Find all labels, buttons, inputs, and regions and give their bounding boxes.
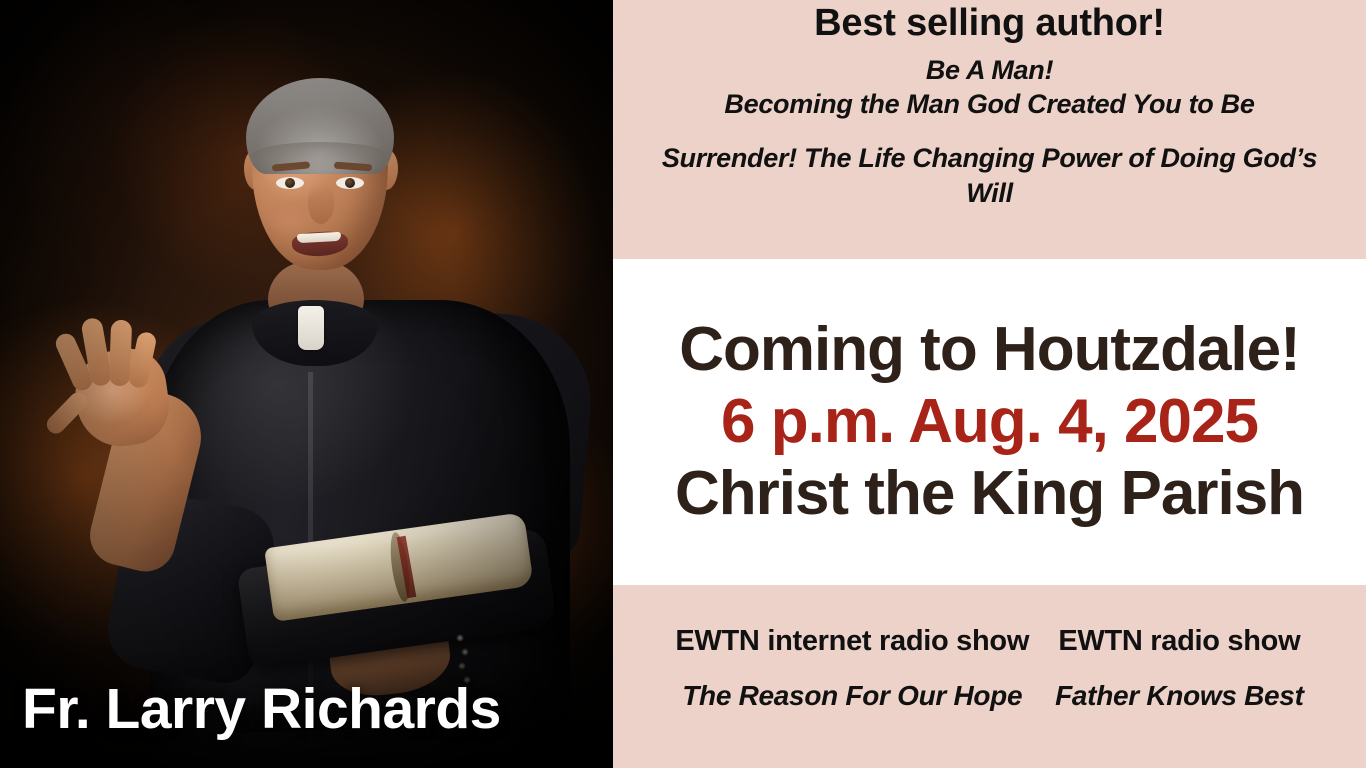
speaker-name-overlay: Fr. Larry Richards [22,676,501,742]
book-title-surrender: Surrender! The Life Changing Power of Do… [640,141,1340,210]
book-title-line-1: Be A Man! [724,53,1254,88]
speaker-photo-panel: Fr. Larry Richards [0,0,613,768]
event-flyer: Fr. Larry Richards Best selling author! … [0,0,1366,768]
radio-show-column-2: EWTN radio show Father Knows Best [1055,625,1304,712]
books-band: Best selling author! Be A Man! Becoming … [613,0,1366,259]
event-venue: Christ the King Parish [675,461,1304,527]
event-details-band: Coming to Houtzdale! 6 p.m. Aug. 4, 2025… [613,259,1366,585]
event-location-headline: Coming to Houtzdale! [679,317,1300,383]
radio-program-title-2: Father Knows Best [1055,680,1304,712]
radio-program-title-1: The Reason For Our Hope [682,680,1022,712]
book-title-line-2: Becoming the Man God Created You to Be [724,87,1254,122]
best-selling-author-tagline: Best selling author! [814,4,1165,44]
book-title-be-a-man: Be A Man! Becoming the Man God Created Y… [724,53,1254,122]
radio-network-label-2: EWTN radio show [1058,625,1300,658]
radio-network-label-1: EWTN internet radio show [675,625,1029,658]
radio-show-column-1: EWTN internet radio show The Reason For … [675,625,1029,712]
event-datetime: 6 p.m. Aug. 4, 2025 [721,389,1258,455]
radio-shows-band: EWTN internet radio show The Reason For … [613,585,1366,768]
info-panel: Best selling author! Be A Man! Becoming … [613,0,1366,768]
